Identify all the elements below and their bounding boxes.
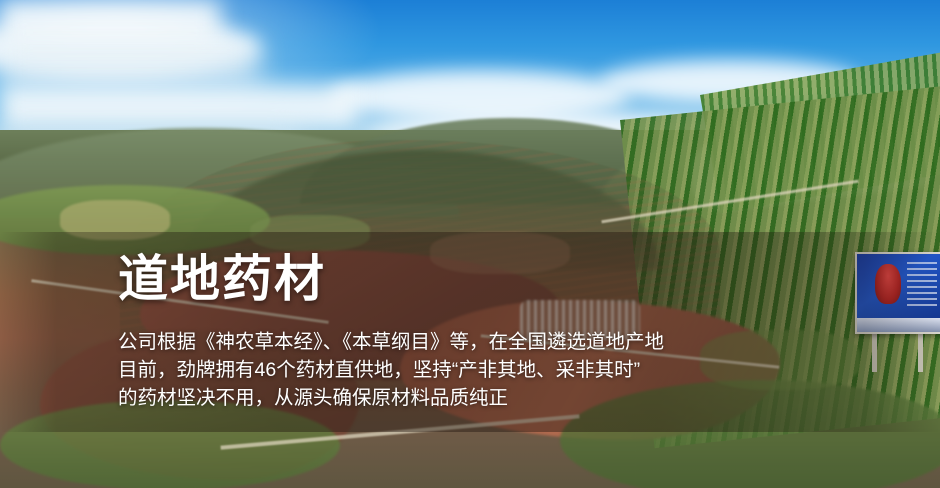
roadside-billboard [855, 252, 940, 334]
description-line-2: 目前，劲牌拥有46个药材直供地，坚持“产非其地、采非其时” [118, 356, 838, 384]
page-title: 道地药材 [118, 254, 326, 304]
banner-description: 公司根据《神农草本经》、《本草纲目》等，在全国遴选道地产地 目前，劲牌拥有46个… [118, 328, 838, 412]
field-patch [60, 200, 170, 240]
billboard-figure [875, 264, 901, 304]
description-line-1: 公司根据《神农草本经》、《本草纲目》等，在全国遴选道地产地 [118, 328, 838, 356]
description-line-3: 的药材坚决不用，从源头确保原材料品质纯正 [118, 384, 838, 412]
banner-image: 道地药材 公司根据《神农草本经》、《本草纲目》等，在全国遴选道地产地 目前，劲牌… [0, 0, 940, 488]
field-patch [430, 232, 570, 274]
field-patch [250, 215, 370, 251]
green-crop-strip [0, 400, 340, 488]
billboard-footer-band [857, 318, 940, 332]
billboard-text-block [907, 262, 937, 306]
